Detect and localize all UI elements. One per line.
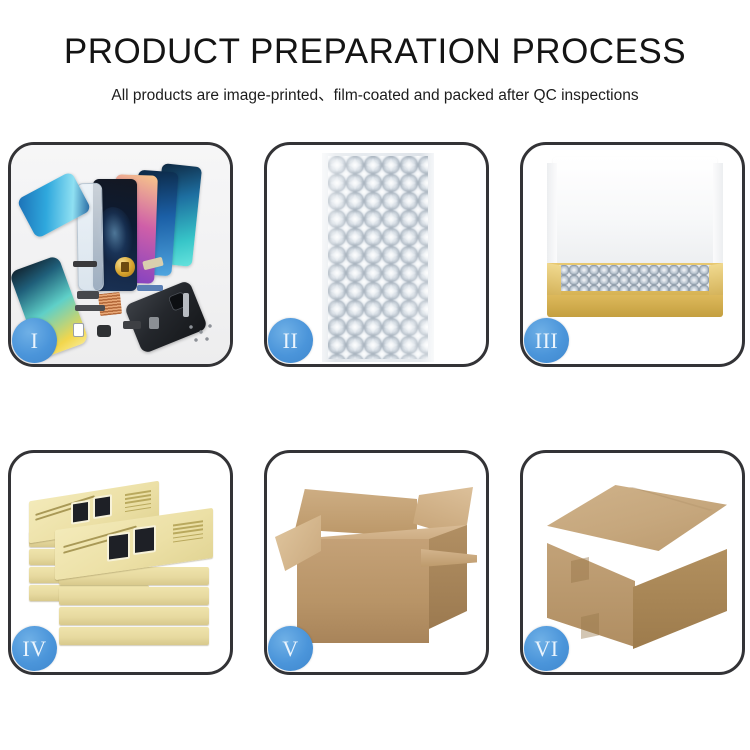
box-spec-lines [173,520,203,545]
page-subtitle: All products are image-printed、film-coat… [0,83,750,105]
step-badge-2: II [268,318,313,363]
step-badge-1: I [12,318,57,363]
sim-tray-part [73,323,84,337]
step-card-6[interactable]: VI [520,450,745,675]
box-screen-print [107,532,130,562]
flex-cable-part [77,291,99,299]
box-screen-print [71,500,90,525]
speaker-coil-icon [115,257,135,277]
box-screen-print [133,525,156,555]
retail-box [59,587,209,605]
step-card-1[interactable]: I [8,142,233,367]
bubble-wrap-sheen [322,153,434,362]
chip-part-icon [98,292,122,316]
camera-module-part [97,325,111,337]
step-card-5[interactable]: V [264,450,489,675]
step-card-3[interactable]: III [520,142,745,367]
box-screen-print [93,494,112,519]
carton-side-panel [429,525,467,629]
sealed-carton-top [547,485,727,551]
product-preparation-infographic: PRODUCT PREPARATION PROCESS All products… [0,0,750,750]
step-badge-6: VI [524,626,569,671]
step-badge-3: III [524,318,569,363]
carton-tape-mark [581,613,599,639]
steps-grid: I II III [8,142,745,675]
page-title: PRODUCT PREPARATION PROCESS [0,32,750,72]
step-card-2[interactable]: II [264,142,489,367]
box-lid-icon [553,157,717,269]
carton-tape-mark [571,557,589,583]
retail-box [59,627,209,645]
screw-specks-icon [187,323,217,345]
step-card-4[interactable]: IV [8,450,233,675]
step-badge-5: V [268,626,313,671]
step-badge-4: IV [12,626,57,671]
bubble-wrap-fill [559,265,711,291]
button-part [149,317,159,329]
flex-cable-part [73,261,97,267]
tray-front-panel [547,295,723,317]
frame-rail-part [183,293,189,317]
bubble-wrap-icon [322,153,434,362]
box-spec-lines [125,490,151,515]
carton-front-panel [297,539,429,643]
flex-cable-part [75,305,105,311]
retail-box [59,607,209,625]
sealed-carton-right [633,549,727,649]
header: PRODUCT PREPARATION PROCESS All products… [0,0,750,105]
flex-cable-part [137,285,163,291]
flex-cable-part [123,321,141,329]
